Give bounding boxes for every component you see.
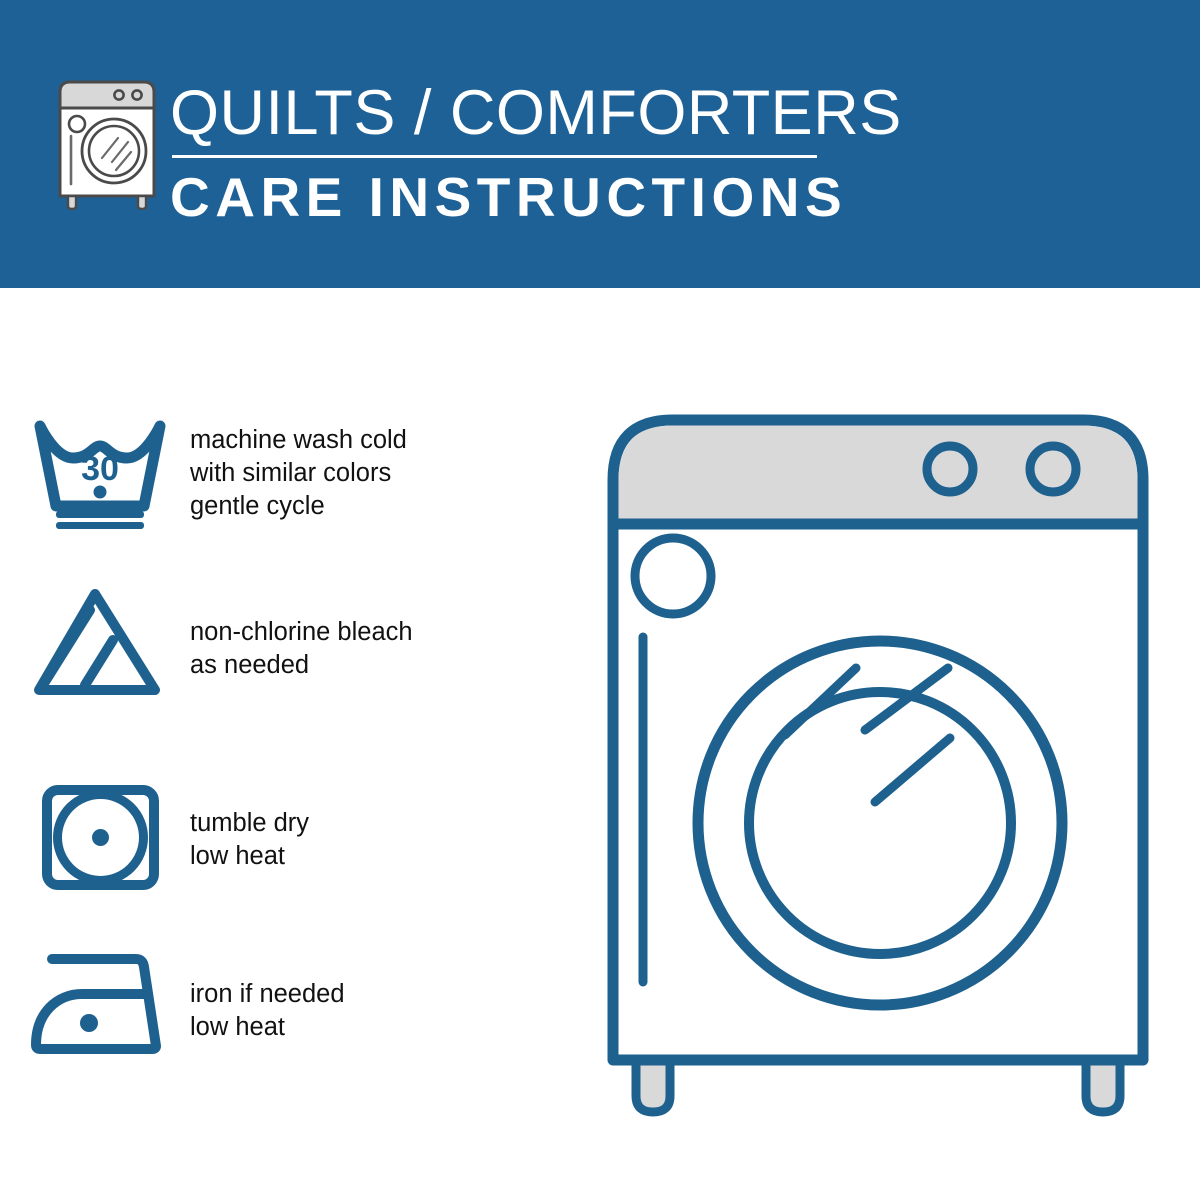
non-chlorine-bleach-icon [0, 588, 190, 698]
care-row-label: tumble dry low heat [190, 783, 309, 873]
care-row-label: machine wash cold with similar colors ge… [190, 418, 407, 523]
front-load-washing-machine-illustration [580, 390, 1180, 1130]
care-instruction-list: 30 machine wash cold with similar colors… [0, 288, 540, 1200]
care-instructions-page: QUILTS / COMFORTERS CARE INSTRUCTIONS 30… [0, 0, 1200, 1200]
care-row: tumble dry low heat [0, 783, 540, 893]
washing-machine-icon [52, 78, 162, 210]
page-title: QUILTS / COMFORTERS [170, 78, 830, 148]
wash-temperature-label: 30 [81, 450, 119, 488]
title-divider [172, 155, 817, 158]
machine-wash-30-gentle-icon: 30 [0, 418, 190, 530]
care-row-label: non-chlorine bleach as needed [190, 588, 413, 682]
care-row: non-chlorine bleach as needed [0, 588, 540, 698]
care-row-label: iron if needed low heat [190, 950, 345, 1044]
page-header: QUILTS / COMFORTERS CARE INSTRUCTIONS [0, 0, 1200, 288]
page-subtitle: CARE INSTRUCTIONS [170, 167, 830, 227]
care-row: 30 machine wash cold with similar colors… [0, 418, 540, 530]
tumble-dry-low-heat-icon [0, 783, 190, 893]
header-title-group: QUILTS / COMFORTERS CARE INSTRUCTIONS [170, 78, 830, 227]
care-row: iron if needed low heat [0, 950, 540, 1055]
iron-low-heat-icon [0, 950, 190, 1055]
top-control-panel [619, 426, 1138, 525]
